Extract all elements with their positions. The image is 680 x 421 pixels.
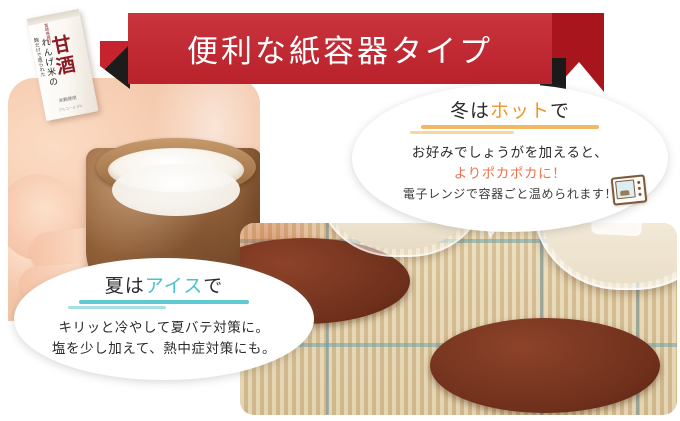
summer-bubble-content: 夏はアイスで キリッと冷やして夏バテ対策に。 塩を少し加えて、熱中症対策にも。 xyxy=(14,271,314,360)
summer-heading: 夏はアイスで xyxy=(14,271,314,309)
summer-heading-prefix: 夏は xyxy=(105,275,145,297)
amazake-surface-inner xyxy=(112,164,240,216)
summer-heading-accent: アイス xyxy=(145,275,203,297)
microwave-icon xyxy=(611,174,648,205)
carton-footer-small: アルコール 0% xyxy=(59,105,83,113)
summer-underline xyxy=(79,300,249,304)
summer-body: キリッと冷やして夏バテ対策に。 塩を少し加えて、熱中症対策にも。 xyxy=(14,318,314,360)
summer-heading-text: 夏はアイスで xyxy=(105,271,224,298)
winter-underline xyxy=(421,125,599,129)
microwave-window-icon xyxy=(615,179,636,199)
summer-body-line-1: キリッと冷やして夏バテ対策に。 xyxy=(14,318,314,339)
carton-footer: 米麹使用 xyxy=(59,97,78,105)
microwave-food-icon xyxy=(620,190,629,196)
summer-body-line-2: 塩を少し加えて、熱中症対策にも。 xyxy=(14,339,314,360)
summer-heading-suffix: で xyxy=(203,275,223,297)
summer-underline-2 xyxy=(68,306,166,309)
winter-heading-prefix: 冬は xyxy=(450,100,490,122)
promo-banner-stage: 便利な紙容器タイプ 宮崎県綾町 甘酒 れんげ米の 麹だけで造られた 米麹使用 ア… xyxy=(0,0,680,421)
microwave-dial-icon xyxy=(638,187,641,190)
winter-heading-suffix: で xyxy=(550,100,570,122)
wooden-coaster xyxy=(430,318,660,413)
winter-body-line-1: お好みでしょうがを加えると、 xyxy=(352,143,668,164)
winter-underline-2 xyxy=(410,131,514,134)
banner-title: 便利な紙容器タイプ xyxy=(128,13,552,84)
microwave-dial-icon xyxy=(638,193,641,196)
microwave-dial-icon xyxy=(637,181,640,184)
winter-heading-accent: ホット xyxy=(490,100,550,122)
winter-heading: 冬はホットで xyxy=(352,96,668,134)
winter-heading-text: 冬はホットで xyxy=(450,96,570,123)
